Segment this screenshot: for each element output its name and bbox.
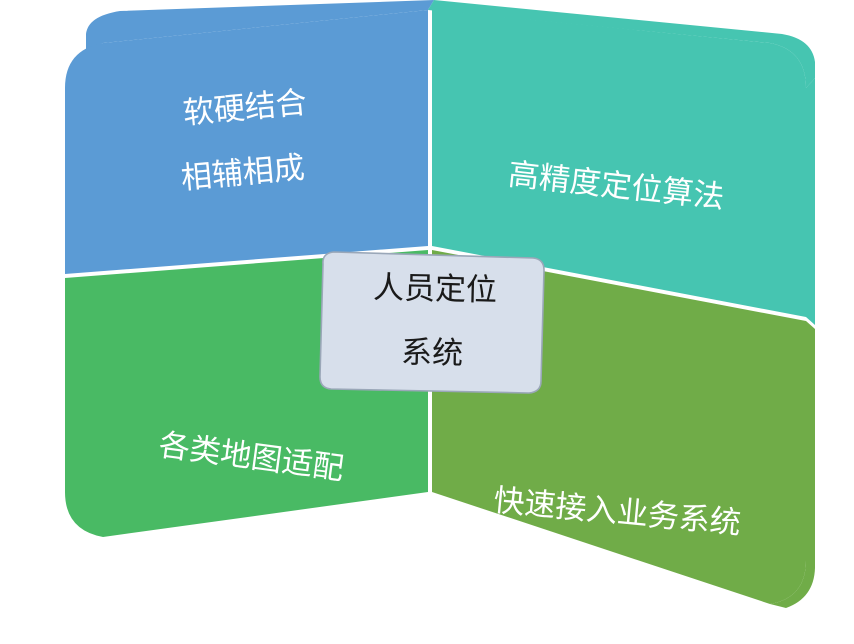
center-callout-label-line2: 系统	[401, 334, 464, 370]
wall-top-right-side	[806, 78, 815, 325]
quadrant-top-left-face[interactable]	[65, 10, 428, 274]
center-callout-label-line1: 人员定位	[373, 270, 498, 308]
center-callout[interactable]: 人员定位 系统	[320, 252, 544, 393]
quadrant-3d-diagram: 软硬结合 相辅相成 高精度定位算法 各类地图适配	[0, 0, 854, 644]
quadrant-top-left[interactable]: 软硬结合 相辅相成	[65, 10, 428, 274]
diagram-canvas: 软硬结合 相辅相成 高精度定位算法 各类地图适配	[0, 0, 854, 644]
